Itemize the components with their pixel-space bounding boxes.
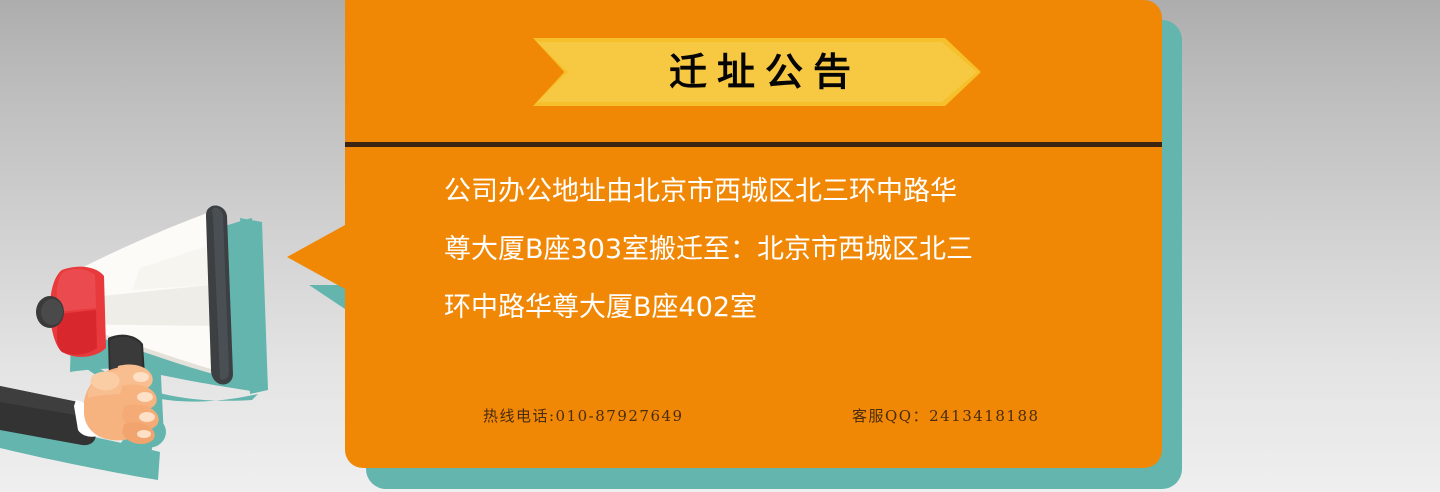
- body-line-3: 环中路华尊大厦B座402室: [444, 279, 1104, 337]
- divider: [345, 142, 1162, 147]
- body-line-2: 尊大厦B座303室搬迁至：北京市西城区北三: [444, 221, 1104, 279]
- speech-tail: [287, 225, 345, 289]
- announcement-card: 迁址公告 公司办公地址由北京市西城区北三环中路华 尊大厦B座303室搬迁至：北京…: [345, 0, 1162, 468]
- footer-contacts: 热线电话:010-87927649 客服QQ：2413418188: [345, 405, 1162, 437]
- page-title: 迁址公告: [653, 53, 861, 91]
- announcement-banner: 迁址公告 公司办公地址由北京市西城区北三环中路华 尊大厦B座303室搬迁至：北京…: [0, 0, 1440, 492]
- ribbon-shape: 迁址公告: [533, 38, 981, 106]
- title-ribbon: 迁址公告: [533, 38, 981, 106]
- hotline-text: 热线电话:010-87927649: [483, 405, 684, 426]
- body-line-1: 公司办公地址由北京市西城区北三环中路华: [444, 163, 1104, 221]
- announcement-body: 公司办公地址由北京市西城区北三环中路华 尊大厦B座303室搬迁至：北京市西城区北…: [444, 163, 1104, 337]
- qq-text: 客服QQ：2413418188: [852, 405, 1040, 426]
